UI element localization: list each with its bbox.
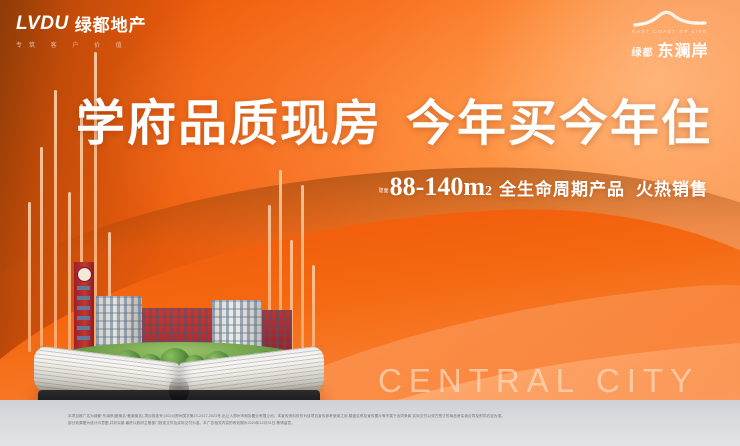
sales-status-label: 火热销售 bbox=[636, 175, 708, 200]
disclaimer-line-2: 部分效果图为设计示意图,并非实景,最终以政府主管部门批准文件及实际交付为准。本广… bbox=[68, 420, 706, 427]
decorative-bar bbox=[28, 202, 31, 352]
project-name: 东澜岸 bbox=[657, 37, 708, 61]
area-range: 88-140 bbox=[390, 172, 464, 202]
wave-mountain-icon bbox=[633, 8, 707, 28]
brand-latin-name: LVDU bbox=[16, 13, 69, 35]
project-english-tagline: EAST COAST OF LIFE bbox=[614, 29, 726, 34]
area-unit: m bbox=[463, 172, 485, 202]
clock-face-icon bbox=[77, 267, 92, 282]
brand-logo-left[interactable]: LVDU 绿都地产 专筑 客 户 价 值 bbox=[16, 11, 147, 49]
tower-window bbox=[77, 296, 90, 300]
product-label: 全生命周期产品 bbox=[499, 175, 625, 200]
area-prefix-label: 建面 bbox=[379, 189, 388, 194]
tower-window bbox=[77, 316, 90, 320]
footer-bar: 本项目推广名为绿都·东澜岸(推案名·备案案名),项目批准号:(2024)郑州国字… bbox=[0, 400, 740, 446]
tower-window bbox=[77, 306, 90, 310]
area-unit-superscript: 2 bbox=[485, 184, 492, 200]
tower-window bbox=[77, 286, 90, 290]
tower-window bbox=[77, 326, 90, 330]
project-brand-prefix: 绿都 bbox=[631, 44, 653, 59]
legal-disclaimer: 本项目推广名为绿都·东澜岸(推案名·备案案名),项目批准号:(2024)郑州国字… bbox=[68, 413, 706, 427]
watermark-text: CENTRAL CITY bbox=[378, 362, 699, 400]
project-logo-right[interactable]: EAST COAST OF LIFE 绿都 东澜岸 bbox=[614, 8, 726, 61]
headline-part-2: 今年买今年住 bbox=[406, 84, 712, 155]
brand-logo-left-row: LVDU 绿都地产 bbox=[16, 11, 147, 36]
brand-chinese-name: 绿都地产 bbox=[75, 11, 147, 36]
disclaimer-line-1: 本项目推广名为绿都·东澜岸(推案名·备案案名),项目批准号:(2024)郑州国字… bbox=[68, 413, 706, 420]
headline-part-1: 学府品质现房 bbox=[76, 84, 382, 155]
real-estate-banner: LVDU 绿都地产 专筑 客 户 价 值 EAST COAST OF LIFE … bbox=[0, 0, 740, 446]
subheadline: 建面 88-140 m 2 全生命周期产品 火热销售 bbox=[379, 172, 708, 202]
headline: 学府品质现房 今年买今年住 bbox=[76, 84, 712, 155]
illustration-open-book-campus bbox=[34, 245, 324, 410]
brand-tagline: 专筑 客 户 价 值 bbox=[16, 40, 147, 49]
project-name-row: 绿都 东澜岸 bbox=[614, 37, 726, 61]
